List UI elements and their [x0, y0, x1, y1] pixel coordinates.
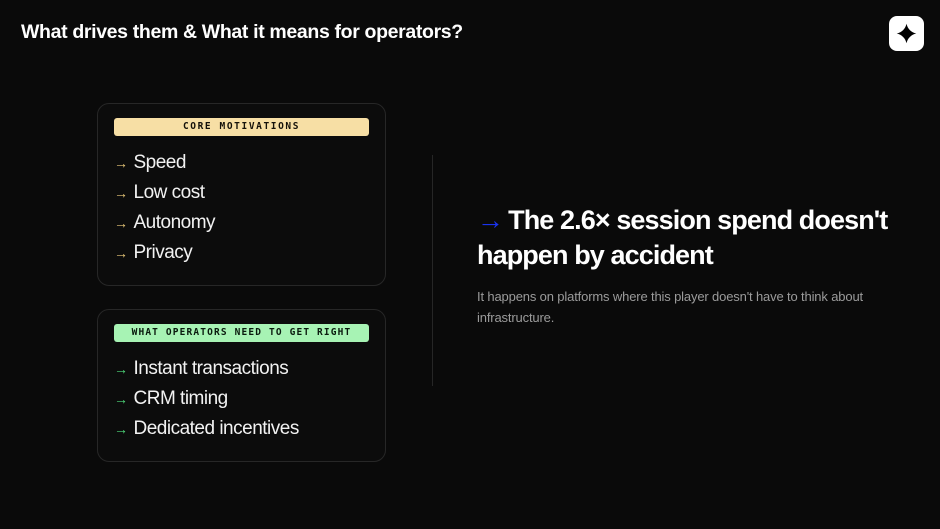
list-item: → Privacy: [114, 237, 369, 267]
x-star-icon: [895, 22, 918, 45]
page-title: What drives them & What it means for ope…: [21, 21, 463, 44]
list-item-label: Speed: [134, 153, 186, 172]
list-item-label: Dedicated incentives: [134, 419, 299, 438]
list-item-label: Instant transactions: [134, 359, 289, 378]
highlight-body-text: It happens on platforms where this playe…: [477, 286, 887, 328]
arrow-right-icon: →: [477, 205, 503, 235]
list-core-motivations: → Speed → Low cost → Autonomy → Privacy: [114, 147, 369, 267]
card-operator-requirements: WHAT OPERATORS NEED TO GET RIGHT → Insta…: [97, 309, 386, 462]
list-item: → Low cost: [114, 177, 369, 207]
list-item-label: CRM timing: [134, 389, 228, 408]
highlight-heading-text: The 2.6× session spend doesn't happen by…: [477, 205, 887, 270]
column-divider: [432, 155, 433, 386]
list-item: → CRM timing: [114, 383, 369, 413]
list-item-label: Low cost: [134, 183, 205, 202]
arrow-right-icon: →: [114, 362, 128, 376]
arrow-right-icon: →: [114, 422, 128, 436]
arrow-right-icon: →: [114, 156, 128, 170]
card-badge-core-motivations: CORE MOTIVATIONS: [114, 118, 369, 136]
list-item: → Instant transactions: [114, 353, 369, 383]
arrow-right-icon: →: [114, 216, 128, 230]
card-badge-operator-requirements: WHAT OPERATORS NEED TO GET RIGHT: [114, 324, 369, 342]
list-item: → Speed: [114, 147, 369, 177]
list-item-label: Autonomy: [134, 213, 216, 232]
arrow-right-icon: →: [114, 186, 128, 200]
list-item: → Autonomy: [114, 207, 369, 237]
arrow-right-icon: →: [114, 246, 128, 260]
card-core-motivations: CORE MOTIVATIONS → Speed → Low cost → Au…: [97, 103, 386, 286]
highlight-heading: →The 2.6× session spend doesn't happen b…: [477, 203, 889, 272]
arrow-right-icon: →: [114, 392, 128, 406]
list-item: → Dedicated incentives: [114, 413, 369, 443]
x-star-logo[interactable]: [889, 16, 924, 51]
list-item-label: Privacy: [134, 243, 193, 262]
left-column: CORE MOTIVATIONS → Speed → Low cost → Au…: [97, 103, 386, 462]
right-column: →The 2.6× session spend doesn't happen b…: [477, 203, 889, 328]
slide-header: What drives them & What it means for ope…: [0, 0, 940, 68]
list-operator-requirements: → Instant transactions → CRM timing → De…: [114, 353, 369, 443]
